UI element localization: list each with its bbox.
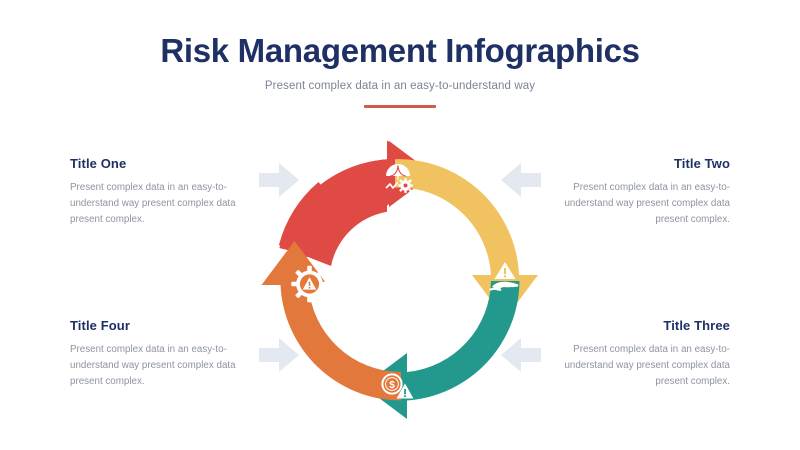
connector-arrow-top-right: [501, 163, 541, 197]
block-one-body: Present complex data in an easy-to-under…: [70, 180, 266, 228]
block-three-title: Title Three: [534, 318, 730, 333]
text-block-one: Title One Present complex data in an eas…: [70, 156, 266, 228]
connector-arrow-bottom-left: [259, 338, 299, 372]
page-subtitle: Present complex data in an easy-to-under…: [0, 80, 800, 92]
cycle-segment-four-orange[interactable]: [262, 241, 402, 401]
text-block-four: Title Four Present complex data in an ea…: [70, 318, 266, 390]
cycle-diagram: $: [255, 140, 545, 420]
block-two-title: Title Two: [534, 156, 730, 171]
svg-text:$: $: [389, 380, 395, 391]
text-block-three: Title Three Present complex data in an e…: [534, 318, 730, 390]
block-four-title: Title Four: [70, 318, 266, 333]
block-four-body: Present complex data in an easy-to-under…: [70, 342, 266, 390]
gear-warning-icon: [291, 266, 327, 302]
slide-canvas: Risk Management Infographics Present com…: [0, 0, 800, 450]
header: Risk Management Infographics Present com…: [0, 32, 800, 108]
block-three-body: Present complex data in an easy-to-under…: [534, 342, 730, 390]
block-one-title: Title One: [70, 156, 266, 171]
title-underline-rule: [364, 105, 436, 108]
block-two-body: Present complex data in an easy-to-under…: [534, 180, 730, 228]
text-block-two: Title Two Present complex data in an eas…: [534, 156, 730, 228]
connector-arrow-top-left: [259, 163, 299, 197]
page-title: Risk Management Infographics: [0, 32, 800, 70]
connector-arrow-bottom-right: [501, 338, 541, 372]
